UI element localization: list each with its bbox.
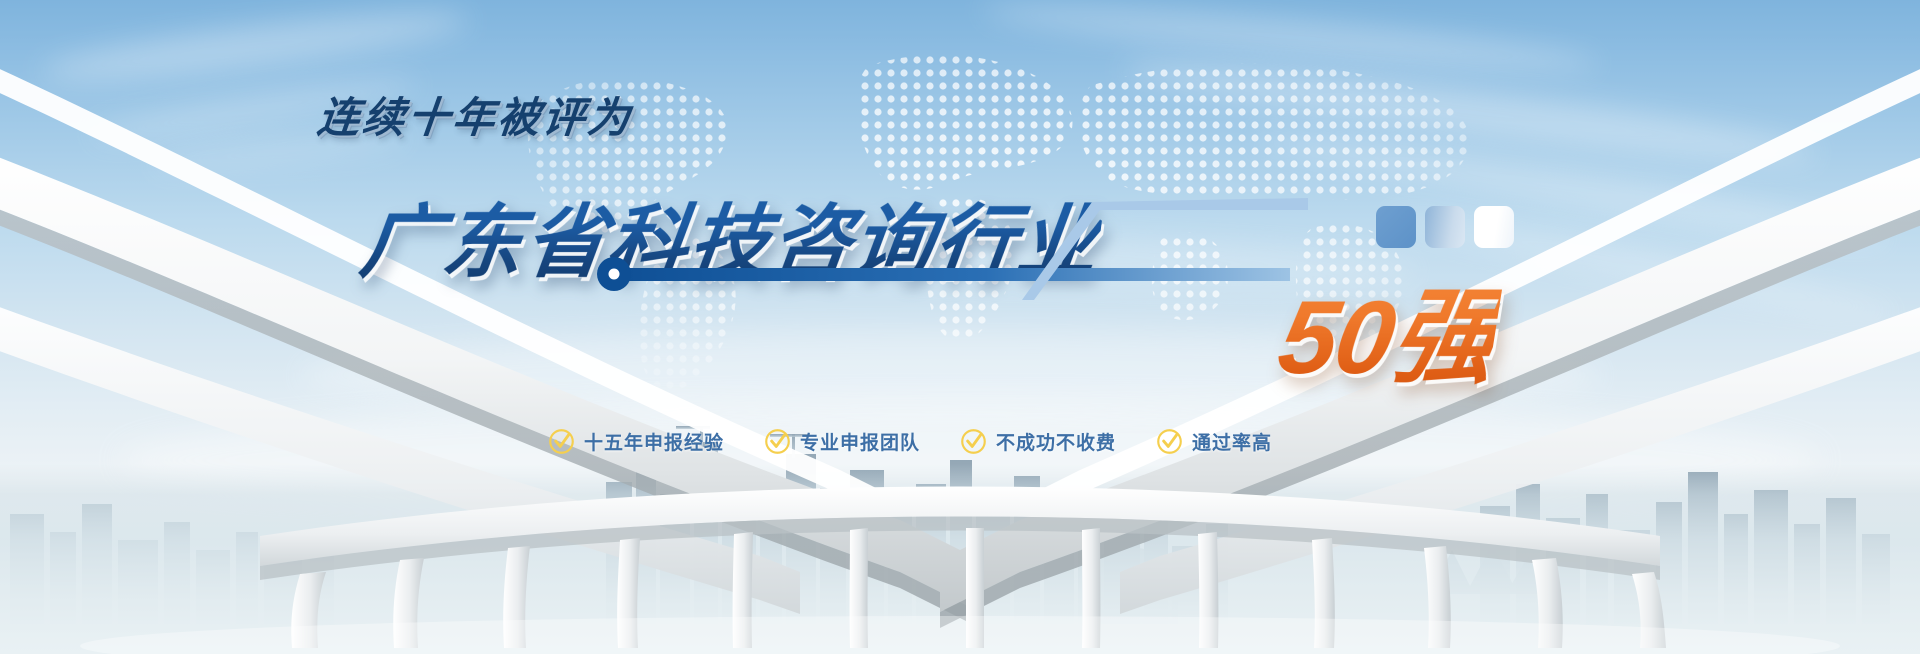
check-circle-icon bbox=[1156, 428, 1183, 455]
feature-label: 不成功不收费 bbox=[996, 428, 1116, 455]
check-circle-icon bbox=[764, 428, 791, 455]
page-title: 广东省科技咨询行业 bbox=[355, 178, 1107, 294]
banner-content: 连续十年被评为 广东省科技咨询行业 50强 bbox=[0, 0, 1920, 654]
feature-label: 专业申报团队 bbox=[800, 428, 920, 455]
decorative-chips bbox=[1376, 206, 1514, 248]
feature-label: 通过率高 bbox=[1192, 428, 1272, 455]
chip-mid bbox=[1425, 206, 1465, 248]
check-circle-icon bbox=[960, 428, 987, 455]
chip-solid bbox=[1376, 206, 1416, 248]
feature-item: 通过率高 bbox=[1156, 428, 1272, 455]
feature-item: 不成功不收费 bbox=[960, 428, 1116, 455]
feature-item: 十五年申报经验 bbox=[548, 428, 724, 455]
feature-item: 专业申报团队 bbox=[764, 428, 920, 455]
eyebrow-text: 连续十年被评为 bbox=[315, 84, 636, 145]
promo-banner: 连续十年被评为 广东省科技咨询行业 50强 bbox=[0, 0, 1920, 654]
feature-list: 十五年申报经验 专业申报团队 不成功不收费 bbox=[548, 428, 1272, 455]
check-circle-icon bbox=[548, 428, 575, 455]
rank-badge: 50强 bbox=[1270, 252, 1508, 403]
chip-light bbox=[1474, 206, 1514, 248]
feature-label: 十五年申报经验 bbox=[584, 428, 724, 455]
